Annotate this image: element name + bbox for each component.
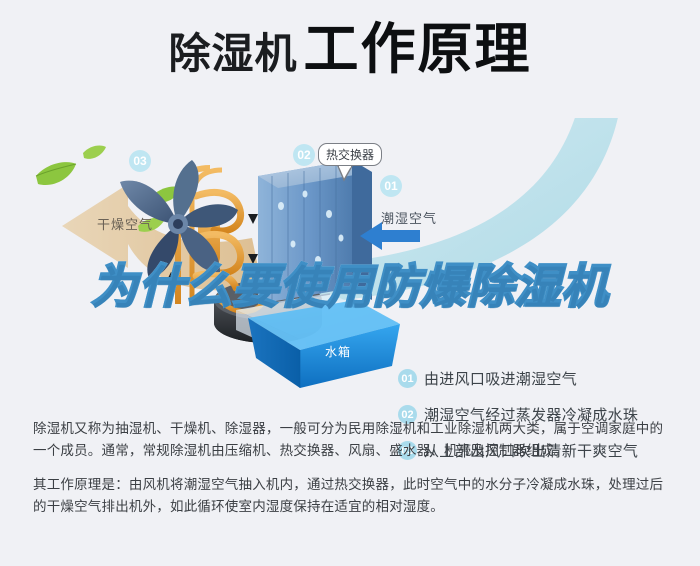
diagram-badge-03: 03 (129, 150, 151, 172)
watermark-overlay: 为什么要使用防爆除湿机 (0, 262, 700, 310)
watermark-text: 为什么要使用防爆除湿机 (92, 260, 609, 312)
page-title-part-2: 工作原理 (304, 18, 532, 80)
heat-exchanger-callout: 热交换器 (318, 143, 382, 166)
legend-text-01: 由进风口吸进潮湿空气 (424, 368, 577, 389)
page-root: 除湿机工作原理 (0, 0, 700, 566)
paragraph-1: 除湿机又称为抽湿机、干燥机、除湿器，一般可分为民用除湿机和工业除湿机两大类，属于… (33, 418, 673, 462)
page-title-part-1: 除湿机 (168, 30, 297, 77)
paragraph-2: 其工作原理是：由风机将潮湿空气抽入机内，通过热交换器，此时空气中的水分子冷凝成水… (33, 474, 673, 518)
label-dry-air: 干燥空气 (97, 214, 153, 233)
legend-badge-01: 01 (398, 369, 417, 388)
dehumidifier-diagram: 03 02 01 热交换器 干燥空气 潮湿空气 水箱 01 由进风口吸进潮湿空气… (0, 118, 700, 398)
page-title: 除湿机工作原理 (0, 22, 700, 77)
article-body: 除湿机又称为抽湿机、干燥机、除湿器，一般可分为民用除湿机和工业除湿机两大类，属于… (33, 418, 673, 530)
diagram-badge-01: 01 (380, 175, 402, 197)
legend-item: 01 由进风口吸进潮湿空气 (398, 368, 688, 389)
diagram-badge-02: 02 (293, 144, 315, 166)
label-humid-air: 潮湿空气 (381, 208, 437, 227)
label-water-tank: 水箱 (325, 343, 351, 360)
